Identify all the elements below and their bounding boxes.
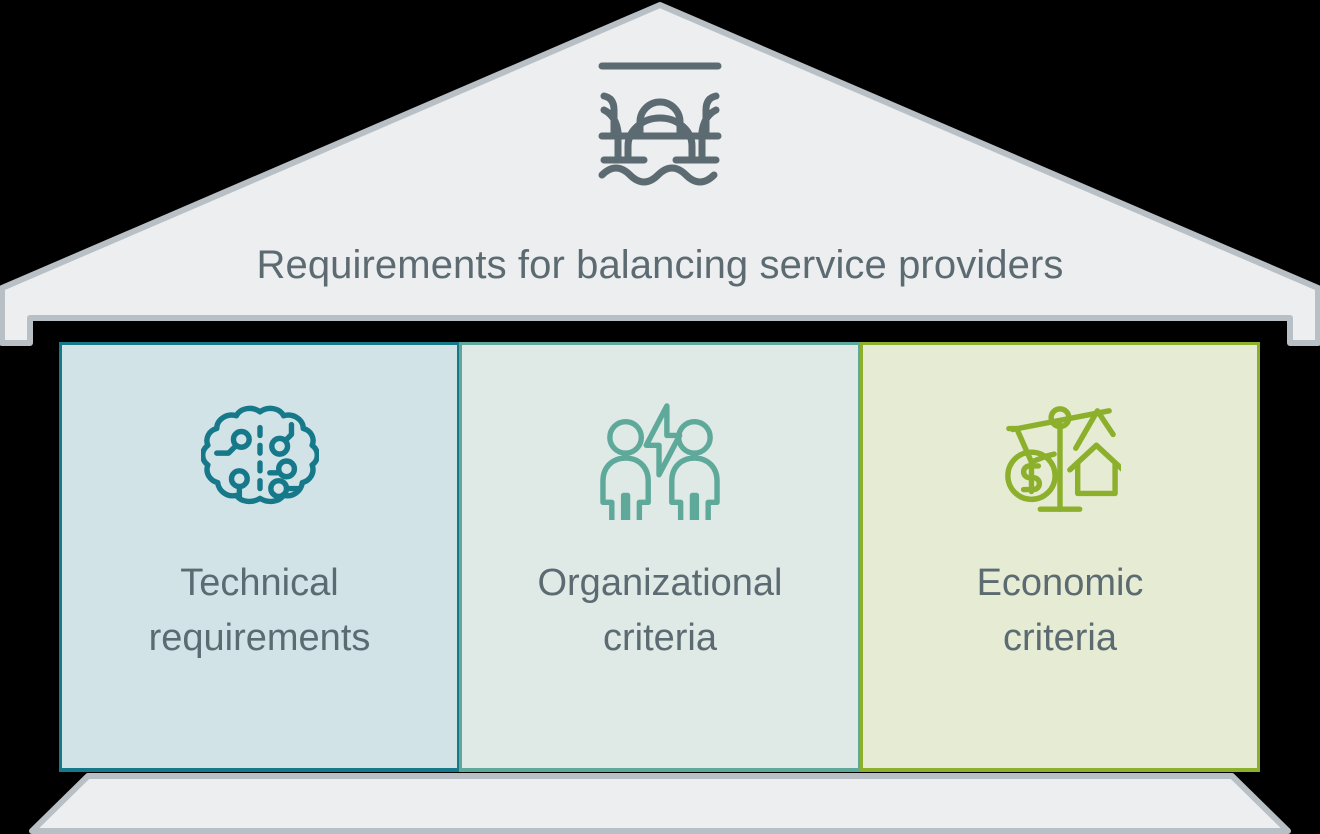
column-economic-label: Economic criteria [977,556,1144,666]
column-technical-icon-wrap [201,398,319,523]
two-people-lightning-icon [599,402,721,520]
column-technical-label: Technical requirements [149,556,371,666]
temple-diagram: Requirements for balancing service provi… [0,0,1320,834]
scales-money-house-icon [999,401,1121,521]
column-organizational[interactable]: Organizational criteria [459,342,861,772]
column-economic-icon-wrap [999,398,1121,523]
brain-circuit-icon [201,402,319,520]
base-shape [32,776,1288,831]
column-technical[interactable]: Technical requirements [59,342,460,772]
column-economic[interactable]: Economic criteria [860,342,1260,772]
column-organizational-icon-wrap [599,398,721,523]
columns-container: Technical requirements [59,342,1261,772]
column-organizational-label: Organizational criteria [537,556,782,666]
